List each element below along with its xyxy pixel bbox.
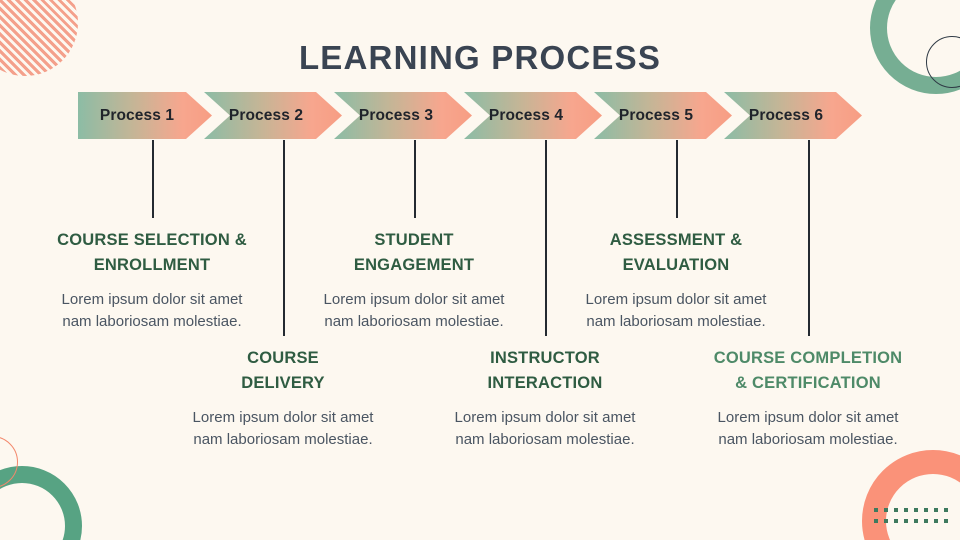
connector-line-6 xyxy=(808,140,810,336)
process-detail-block-2-body: Lorem ipsum dolor sit amet nam laboriosa… xyxy=(163,407,403,452)
connector-line-5 xyxy=(676,140,678,218)
process-detail-block-5: ASSESSMENT & EVALUATION Lorem ipsum dolo… xyxy=(556,228,796,334)
process-step-5-label: Process 5 xyxy=(619,107,693,125)
green-ring-decoration-bottom-left xyxy=(0,466,82,540)
connector-line-1 xyxy=(152,140,154,218)
slide-canvas: LEARNING PROCESS Process 1 Process 2 Pro… xyxy=(0,0,960,540)
dot xyxy=(914,519,918,523)
dot xyxy=(904,519,908,523)
dot xyxy=(924,519,928,523)
process-step-3[interactable]: Process 3 xyxy=(334,92,472,139)
connector-line-3 xyxy=(414,140,416,218)
process-step-2[interactable]: Process 2 xyxy=(204,92,342,139)
dot-grid-decoration xyxy=(874,508,954,530)
dot xyxy=(924,508,928,512)
connector-line-4 xyxy=(545,140,547,336)
process-detail-block-5-title: ASSESSMENT & EVALUATION xyxy=(556,228,796,278)
page-title: LEARNING PROCESS xyxy=(0,39,960,77)
process-step-6[interactable]: Process 6 xyxy=(724,92,862,139)
dot xyxy=(884,508,888,512)
process-detail-block-1-title: COURSE SELECTION & ENROLLMENT xyxy=(32,228,272,278)
dot xyxy=(894,519,898,523)
process-detail-block-3: STUDENT ENGAGEMENT Lorem ipsum dolor sit… xyxy=(294,228,534,334)
process-detail-block-2: COURSE DELIVERY Lorem ipsum dolor sit am… xyxy=(163,346,403,452)
process-detail-block-3-title: STUDENT ENGAGEMENT xyxy=(294,228,534,278)
process-detail-block-4: INSTRUCTOR INTERACTION Lorem ipsum dolor… xyxy=(425,346,665,452)
process-banner: Process 1 Process 2 Process 3 Process 4 … xyxy=(78,92,858,139)
process-detail-block-2-title: COURSE DELIVERY xyxy=(163,346,403,396)
process-step-2-label: Process 2 xyxy=(229,107,303,125)
process-detail-block-1: COURSE SELECTION & ENROLLMENT Lorem ipsu… xyxy=(32,228,272,334)
process-detail-block-6-title: COURSE COMPLETION & CERTIFICATION xyxy=(688,346,928,396)
dot xyxy=(934,519,938,523)
process-step-6-label: Process 6 xyxy=(749,107,823,125)
connector-line-2 xyxy=(283,140,285,336)
process-step-3-label: Process 3 xyxy=(359,107,433,125)
dot xyxy=(894,508,898,512)
dot xyxy=(934,508,938,512)
thin-coral-circle-outline-decoration-bottom-left xyxy=(0,436,18,488)
process-detail-block-3-body: Lorem ipsum dolor sit amet nam laboriosa… xyxy=(294,289,534,334)
dot xyxy=(904,508,908,512)
process-detail-block-4-title: INSTRUCTOR INTERACTION xyxy=(425,346,665,396)
process-step-1-label: Process 1 xyxy=(100,107,174,125)
process-step-5[interactable]: Process 5 xyxy=(594,92,732,139)
dot xyxy=(884,519,888,523)
process-step-1[interactable]: Process 1 xyxy=(78,92,212,139)
dot xyxy=(874,508,878,512)
process-step-4-label: Process 4 xyxy=(489,107,563,125)
dot xyxy=(914,508,918,512)
dot xyxy=(874,519,878,523)
dot xyxy=(944,508,948,512)
process-detail-block-6-body: Lorem ipsum dolor sit amet nam laboriosa… xyxy=(688,407,928,452)
process-detail-block-1-body: Lorem ipsum dolor sit amet nam laboriosa… xyxy=(32,289,272,334)
process-step-4[interactable]: Process 4 xyxy=(464,92,602,139)
dot xyxy=(944,519,948,523)
coral-ring-decoration-bottom-right xyxy=(862,450,960,540)
process-detail-block-6: COURSE COMPLETION & CERTIFICATION Lorem … xyxy=(688,346,928,452)
process-detail-block-5-body: Lorem ipsum dolor sit amet nam laboriosa… xyxy=(556,289,796,334)
process-detail-block-4-body: Lorem ipsum dolor sit amet nam laboriosa… xyxy=(425,407,665,452)
